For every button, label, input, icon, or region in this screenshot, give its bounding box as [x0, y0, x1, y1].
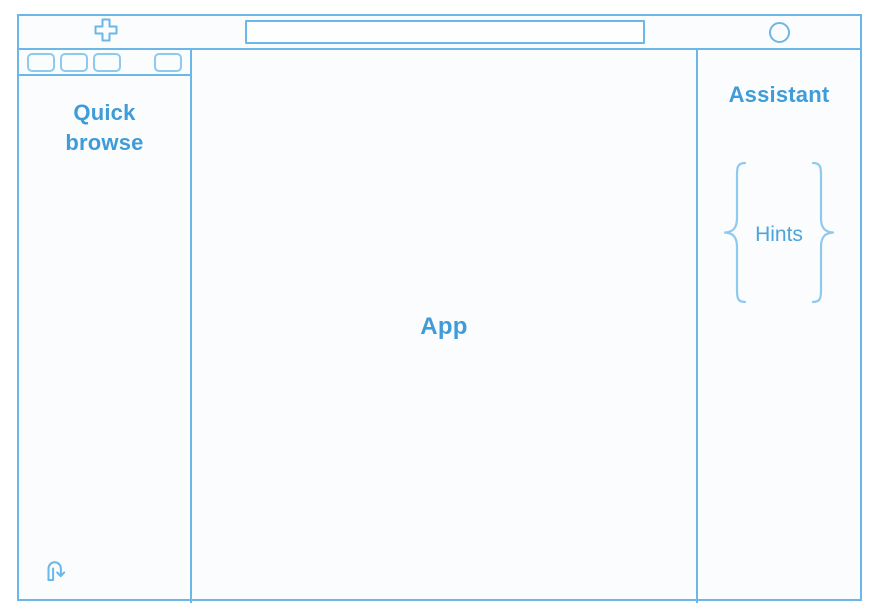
sidebar-tab-strip [19, 50, 190, 76]
search-input[interactable] [245, 20, 645, 44]
top-bar-center-section [192, 16, 698, 48]
sidebar-tab-4[interactable] [154, 53, 182, 72]
assistant-title: Assistant [729, 82, 830, 108]
body-row: Quick browse App Assistant [19, 50, 860, 603]
sidebar-panel: Quick browse [19, 50, 192, 603]
right-brace-icon [807, 160, 837, 310]
sidebar-title-line-2: browse [33, 128, 176, 158]
top-bar-right-section [698, 16, 860, 48]
sidebar-tab-2[interactable] [60, 53, 88, 72]
top-bar [19, 16, 860, 50]
sidebar-title: Quick browse [19, 98, 190, 157]
u-turn-arrow-icon[interactable] [41, 555, 71, 590]
wireframe-frame: Quick browse App Assistant [17, 14, 862, 601]
app-label: App [420, 313, 468, 341]
hints-label: Hints [751, 223, 807, 247]
top-bar-left-section [19, 16, 192, 48]
sidebar-footer [19, 541, 190, 603]
hints-block: Hints [698, 160, 860, 310]
left-brace-icon [721, 160, 751, 310]
sidebar-tab-3[interactable] [93, 53, 121, 72]
sidebar-title-line-1: Quick [33, 98, 176, 128]
sidebar-tab-1[interactable] [27, 53, 55, 72]
assistant-panel: Assistant Hints [698, 50, 860, 603]
app-content-panel: App [192, 50, 698, 603]
circle-avatar-icon[interactable] [769, 22, 790, 43]
sidebar-content-area [19, 157, 190, 541]
plus-icon[interactable] [92, 16, 120, 49]
